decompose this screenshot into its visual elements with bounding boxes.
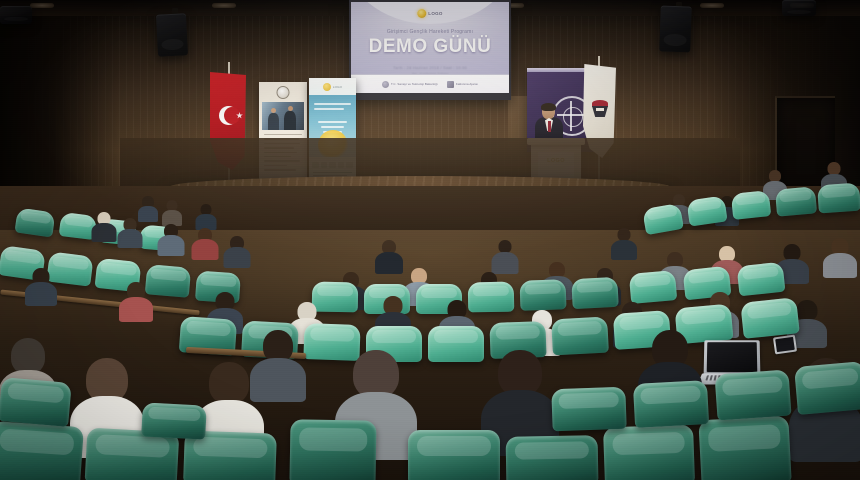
theater-seat[interactable] [603, 424, 695, 480]
crest-top [592, 100, 608, 107]
person-torso [119, 297, 153, 322]
circle-seal-icon [382, 81, 389, 88]
theater-seat[interactable] [141, 402, 207, 439]
presenter-tie [548, 121, 551, 132]
person-head [209, 362, 249, 404]
slide-logo-icon [417, 9, 426, 18]
sponsor-logo: Kalkınma Ajansı [447, 81, 478, 88]
theater-seat[interactable] [714, 369, 791, 420]
projection-screen: LOGO Girişimci Gençlik Hareketi Programı… [351, 2, 509, 93]
ceiling-light [212, 3, 236, 8]
slide-subtitle-line1: Tarih : 28 Haziran 2018 / Saat : 10.00 [351, 65, 509, 70]
sponsor-logo: T.C. Sanayi ve Teknoloji Bakanlığı [382, 81, 438, 88]
wall-speaker-left [156, 13, 188, 57]
theater-seat[interactable] [629, 270, 677, 304]
theater-seat[interactable] [0, 421, 84, 480]
wall-vent-right [782, 0, 816, 16]
wall-vent-left [0, 6, 32, 24]
ceiling-light [700, 3, 724, 8]
audience-member [612, 228, 636, 260]
audience-member [192, 228, 218, 260]
photo-face [271, 108, 276, 113]
photo-figure [284, 111, 296, 130]
audience-member [196, 204, 216, 230]
slide-logo: LOGO [417, 9, 442, 18]
person-torso [224, 247, 251, 268]
conference-hall-photo: LOGO Girişimci Gençlik Hareketi Programı… [0, 0, 860, 480]
theater-seat[interactable] [551, 317, 609, 356]
theater-seat[interactable] [428, 326, 484, 362]
audience-member [92, 212, 116, 242]
audience-member [492, 240, 518, 274]
theater-seat[interactable] [0, 377, 72, 427]
person-head [353, 350, 399, 398]
ceiling-light [30, 3, 54, 8]
theater-seat[interactable] [519, 279, 566, 311]
person-torso [250, 358, 306, 402]
photo-face [288, 106, 293, 111]
theater-seat[interactable] [633, 380, 709, 428]
theater-seat[interactable] [731, 190, 772, 220]
person-torso [92, 223, 117, 242]
institution-crest-icon [590, 100, 610, 122]
slide-kicker-text: Girişimci Gençlik Hareketi Programı [351, 29, 509, 35]
theater-seat[interactable] [506, 435, 599, 480]
person-torso [492, 252, 519, 274]
audience-member [118, 218, 142, 248]
theater-seat[interactable] [571, 277, 619, 309]
sponsor-name: Kalkınma Ajansı [456, 82, 478, 86]
audience-member [224, 236, 250, 268]
person-torso [118, 229, 143, 248]
person-head [797, 300, 818, 321]
slide-title: DEMO GÜNÜ [351, 36, 509, 58]
person-torso [375, 252, 403, 274]
person-torso [25, 282, 57, 306]
rollup-left-photo [262, 102, 304, 130]
audience-member [252, 330, 304, 402]
theater-seat[interactable] [468, 282, 515, 313]
photo-figure [268, 113, 279, 130]
crest-band [596, 108, 604, 111]
rollup-left-logo-icon [277, 86, 290, 99]
presenter-hair [541, 103, 556, 111]
person-torso [611, 240, 637, 260]
laptop-screen [707, 342, 758, 372]
rollup-right-logo-text: LOGO [333, 85, 342, 89]
theater-seat[interactable] [289, 419, 376, 480]
theater-seat[interactable] [698, 416, 791, 480]
rollup-right-header: LOGO [309, 78, 356, 95]
slide-sponsor-strip: T.C. Sanayi ve Teknoloji Bakanlığı Kalkı… [351, 74, 509, 93]
theater-seat[interactable] [817, 183, 860, 214]
theater-seat[interactable] [794, 361, 860, 415]
sponsor-name: T.C. Sanayi ve Teknoloji Bakanlığı [391, 82, 438, 86]
audience-member [120, 282, 152, 322]
person-head [11, 338, 45, 374]
audience-member [376, 240, 402, 274]
person-torso [158, 235, 185, 256]
theater-seat[interactable] [686, 195, 727, 226]
person-torso [823, 253, 857, 278]
theater-seat[interactable] [408, 430, 500, 480]
wall-speaker-right [659, 5, 692, 52]
audience-member [26, 268, 56, 306]
slide-logo-text: LOGO [428, 11, 442, 16]
square-crest-icon [447, 81, 454, 88]
person-torso [192, 239, 219, 260]
theater-seat[interactable] [551, 387, 626, 432]
laptop-lid [704, 340, 761, 374]
audience-member [824, 238, 856, 278]
theater-seat[interactable] [737, 262, 786, 297]
rollup-right-logo-icon [323, 83, 331, 91]
theater-seat[interactable] [775, 186, 817, 216]
tablet-device[interactable] [773, 335, 797, 355]
theater-seat[interactable] [740, 297, 799, 339]
crest-inner-ring [563, 107, 583, 127]
audience-member [158, 224, 184, 256]
audience-member [162, 200, 182, 226]
